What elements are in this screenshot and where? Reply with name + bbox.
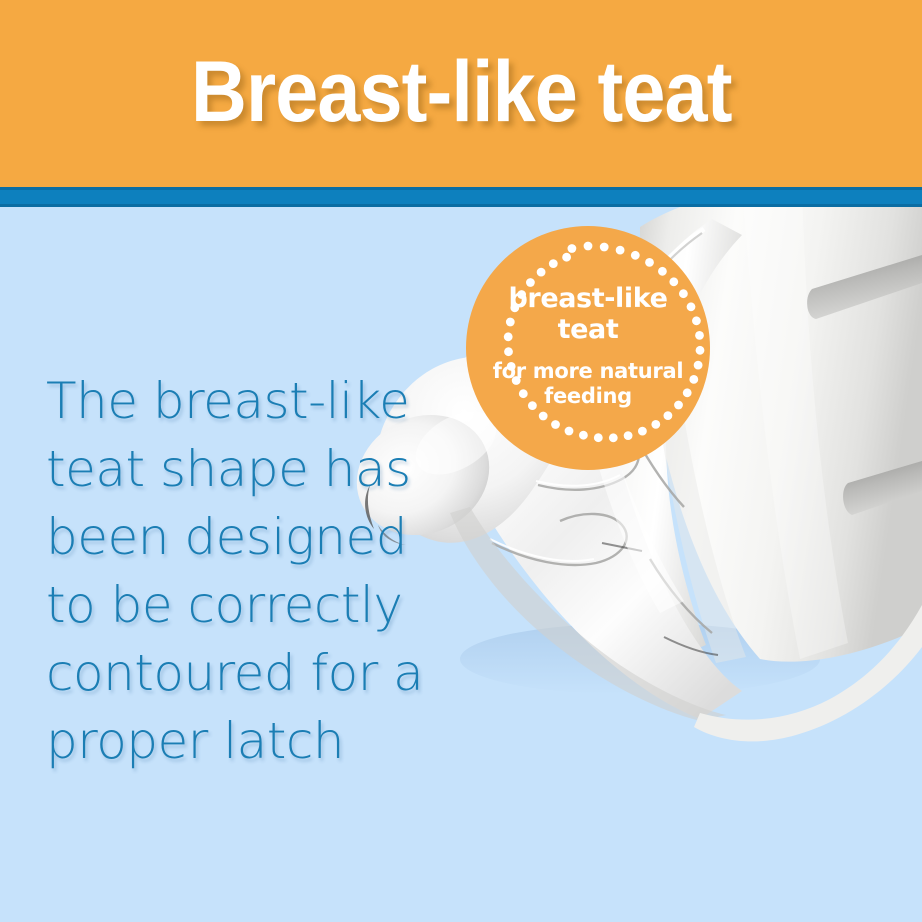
body-copy-line: The breast-like xyxy=(46,367,476,435)
product-shadow xyxy=(460,623,820,695)
body-copy-line: to be correctly xyxy=(46,571,476,639)
body-copy-line: contoured for a xyxy=(46,639,476,707)
badge-title-line-1: breast-like xyxy=(508,283,667,314)
badge-subtitle: for more natural feeding xyxy=(493,359,684,409)
product-feature-panel: Breast-like teat xyxy=(0,0,922,922)
divider-bar xyxy=(0,190,922,204)
badge-dotted-ring xyxy=(466,226,710,470)
body-copy-line: teat shape has xyxy=(46,435,476,503)
body-copy-line: been designed xyxy=(46,503,476,571)
badge-subtitle-line-1: for more natural xyxy=(493,359,684,383)
badge-title-line-2: teat xyxy=(558,314,619,345)
collar-vent-slots xyxy=(807,255,922,515)
badge-subtitle-line-2: feeding xyxy=(544,384,632,408)
feature-badge: breast-like teat for more natural feedin… xyxy=(466,226,710,470)
body-copy: The breast-like teat shape has been desi… xyxy=(46,367,476,775)
collar-bottom-lip xyxy=(694,605,922,741)
badge-title: breast-like teat xyxy=(508,283,667,345)
page-title: Breast-like teat xyxy=(191,49,732,135)
content-panel: The breast-like teat shape has been desi… xyxy=(0,207,922,922)
header-banner: Breast-like teat xyxy=(0,0,922,187)
body-copy-line: proper latch xyxy=(46,707,476,775)
